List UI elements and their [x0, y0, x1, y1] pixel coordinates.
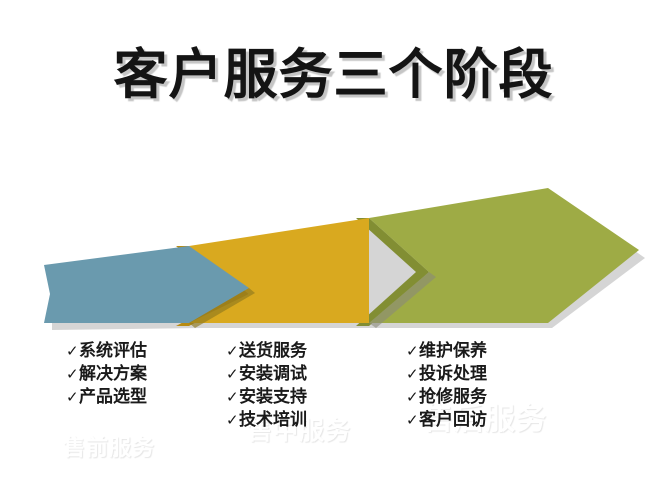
check-icon: ✓ — [66, 363, 79, 386]
list-item-label: 安装调试 — [239, 364, 307, 384]
list-item: ✓投诉处理 — [406, 363, 487, 386]
slide-canvas: 客户服务三个阶段 售前服务 售中服务 售后服务 ✓系统评估 — [0, 0, 667, 500]
list-item: ✓技术培训 — [226, 409, 307, 432]
list-item: ✓客户回访 — [406, 409, 487, 432]
list-item-label: 系统评估 — [79, 341, 147, 361]
check-icon: ✓ — [226, 409, 239, 432]
list-item: ✓抢修服务 — [406, 386, 487, 409]
list-item-label: 维护保养 — [419, 341, 487, 361]
list-item: ✓解决方案 — [66, 363, 147, 386]
list-item-label: 客户回访 — [419, 410, 487, 430]
list-item: ✓安装调试 — [226, 363, 307, 386]
page-title: 客户服务三个阶段 — [0, 44, 667, 106]
check-icon: ✓ — [226, 386, 239, 409]
list-item-label: 产品选型 — [79, 387, 147, 407]
check-icon: ✓ — [406, 386, 419, 409]
check-icon: ✓ — [226, 363, 239, 386]
list-item: ✓安装支持 — [226, 386, 307, 409]
bullet-list-pre-sale: ✓系统评估 ✓解决方案 ✓产品选型 — [66, 340, 147, 409]
stage-detail-lists: ✓系统评估 ✓解决方案 ✓产品选型 ✓送货服务 ✓安装调试 ✓安装支持 ✓技术培… — [0, 340, 667, 460]
chevron-shapes — [0, 160, 667, 340]
check-icon: ✓ — [406, 363, 419, 386]
check-icon: ✓ — [406, 409, 419, 432]
list-item-label: 安装支持 — [239, 387, 307, 407]
list-item: ✓产品选型 — [66, 386, 147, 409]
list-item: ✓送货服务 — [226, 340, 307, 363]
check-icon: ✓ — [66, 386, 79, 409]
list-item-label: 送货服务 — [239, 341, 307, 361]
chevron-pre-sale[interactable] — [44, 246, 189, 323]
list-item-label: 技术培训 — [239, 410, 307, 430]
check-icon: ✓ — [66, 340, 79, 363]
check-icon: ✓ — [226, 340, 239, 363]
list-item: ✓维护保养 — [406, 340, 487, 363]
list-item-label: 抢修服务 — [419, 387, 487, 407]
process-chevron-diagram: 售前服务 售中服务 售后服务 — [0, 160, 667, 340]
check-icon: ✓ — [406, 340, 419, 363]
bullet-list-after-sale: ✓维护保养 ✓投诉处理 ✓抢修服务 ✓客户回访 — [406, 340, 487, 432]
list-item: ✓系统评估 — [66, 340, 147, 363]
bullet-list-in-sale: ✓送货服务 ✓安装调试 ✓安装支持 ✓技术培训 — [226, 340, 307, 432]
list-item-label: 解决方案 — [79, 364, 147, 384]
list-item-label: 投诉处理 — [419, 364, 487, 384]
